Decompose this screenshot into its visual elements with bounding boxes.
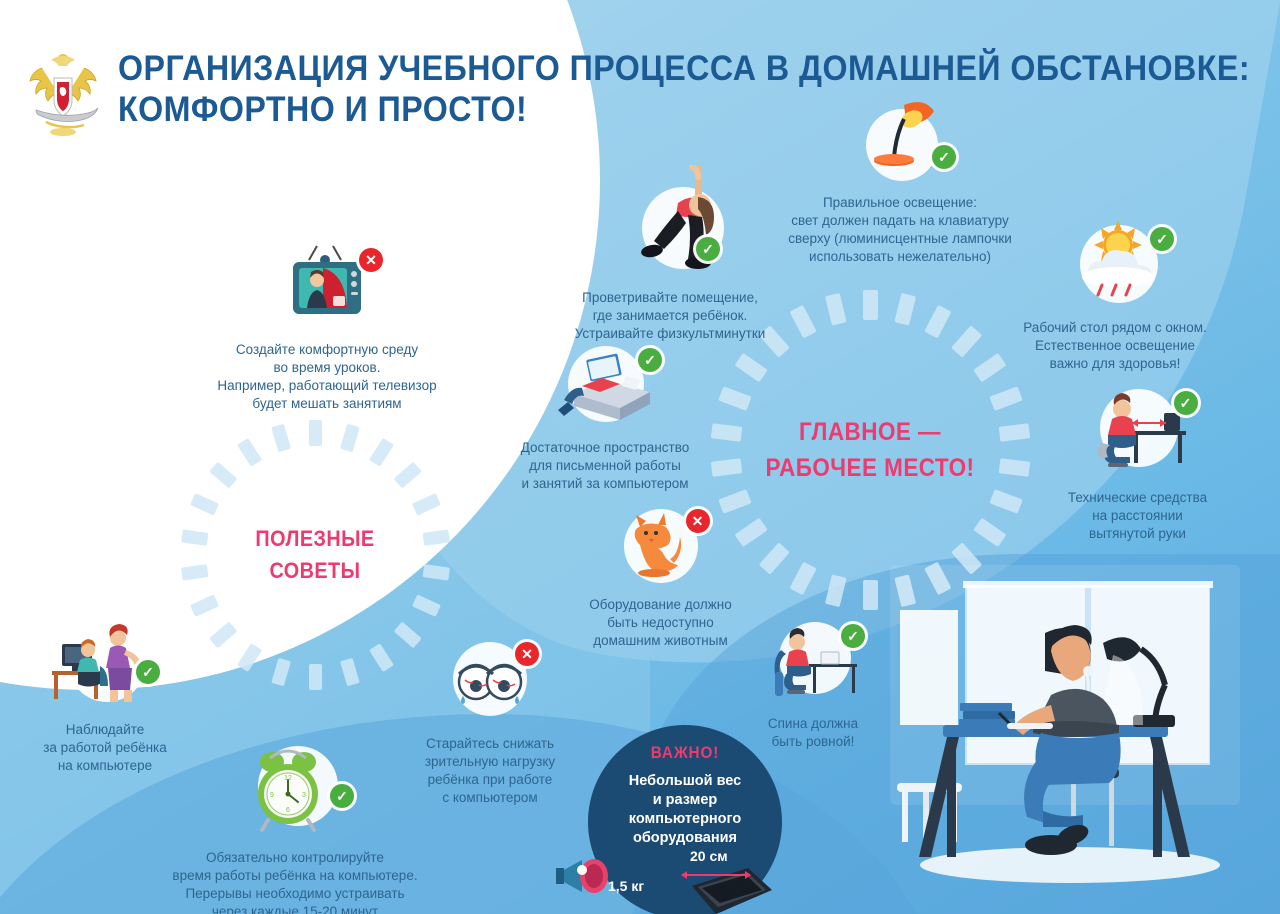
check-badge-icon: ✓: [136, 660, 160, 684]
block-desk-space: ✓ Достаточное пространство для письменно…: [495, 340, 715, 493]
block-exercise: ✓ Проветривайте помещение, где занимаетс…: [555, 165, 785, 343]
important-body: Небольшой вес и размер компьютерного обо…: [588, 772, 782, 847]
tablet-weight-label: 1,5 кг: [608, 878, 644, 894]
ring-tick: [998, 423, 1030, 442]
check-badge-icon: ✓: [330, 784, 354, 808]
desk-lamp-icon: [830, 95, 970, 185]
check-badge-icon: ✓: [638, 348, 662, 372]
block-window-sun-text: Рабочий стол рядом с окном. Естественное…: [985, 319, 1245, 373]
check-badge-icon: ✓: [1150, 227, 1174, 251]
russian-coat-of-arms-icon: [26, 48, 100, 140]
width-arrow-icon: [682, 874, 750, 876]
cross-badge-icon: ✕: [686, 509, 710, 533]
tablet-icon: [668, 860, 784, 914]
svg-text:6: 6: [286, 807, 290, 814]
tablet-width-label: 20 см: [690, 848, 728, 864]
ring-tick: [422, 529, 450, 546]
ring-tick: [710, 423, 742, 442]
ring-tick: [309, 664, 322, 690]
ring-main-line-2: РАБОЧЕЕ МЕСТО!: [766, 450, 975, 486]
block-exercise-text: Проветривайте помещение, где занимается …: [555, 289, 785, 343]
infographic-poster: ОРГАНИЗАЦИЯ УЧЕБНОГО ПРОЦЕССА В ДОМАШНЕЙ…: [0, 0, 1280, 914]
ring-tick: [309, 420, 322, 446]
ring-tips-line-1: ПОЛЕЗНЫЕ: [255, 523, 374, 555]
block-desk-space-text: Достаточное пространство для письменной …: [495, 439, 715, 493]
ring-tips-line-2: СОВЕТЫ: [270, 555, 361, 587]
ring-tick: [180, 529, 208, 546]
megaphone-icon: [552, 846, 620, 906]
title-line-1: ОРГАНИЗАЦИЯ УЧЕБНОГО ПРОЦЕССА В ДОМАШНЕЙ…: [118, 48, 1112, 89]
block-arms-reach-text: Технические средства на расстоянии вытян…: [1040, 489, 1235, 543]
check-badge-icon: ✓: [932, 145, 956, 169]
alarm-clock-icon: 12 3 6 9: [210, 740, 380, 840]
svg-text:9: 9: [270, 792, 274, 799]
ring-tick: [863, 290, 878, 320]
block-eye-strain-text: Старайтесь снижать зрительную нагрузку р…: [395, 735, 585, 807]
check-badge-icon: ✓: [1174, 391, 1198, 415]
stretching-person-icon: [600, 165, 740, 280]
block-pets-text: Оборудование должно быть недоступно дома…: [568, 596, 753, 650]
svg-text:3: 3: [302, 792, 306, 799]
cross-badge-icon: ✕: [359, 248, 383, 272]
block-arms-reach: ✓ Технические средства на расстоянии выт…: [1040, 385, 1235, 543]
ring-main-line-1: ГЛАВНОЕ —: [799, 414, 941, 450]
important-title: ВАЖНО!: [598, 743, 773, 763]
check-badge-icon: ✓: [696, 237, 720, 261]
block-tv: ✕ Создайте комфортную среду во время уро…: [192, 240, 462, 413]
block-window-sun: ✓ Рабочий стол рядом с окном. Естественн…: [985, 215, 1245, 373]
student-at-desk-illustration: [855, 555, 1280, 914]
cross-badge-icon: ✕: [515, 642, 539, 666]
block-eye-strain: ✕ Старайтесь снижать зрительную нагрузку…: [395, 640, 585, 807]
block-tv-text: Создайте комфортную среду во время уроко…: [192, 341, 462, 413]
block-pets: ✕ Оборудование должно быть недоступно до…: [568, 505, 753, 650]
block-time-limit-text: Обязательно контролируйте время работы р…: [150, 849, 440, 914]
svg-text:12: 12: [284, 775, 292, 782]
